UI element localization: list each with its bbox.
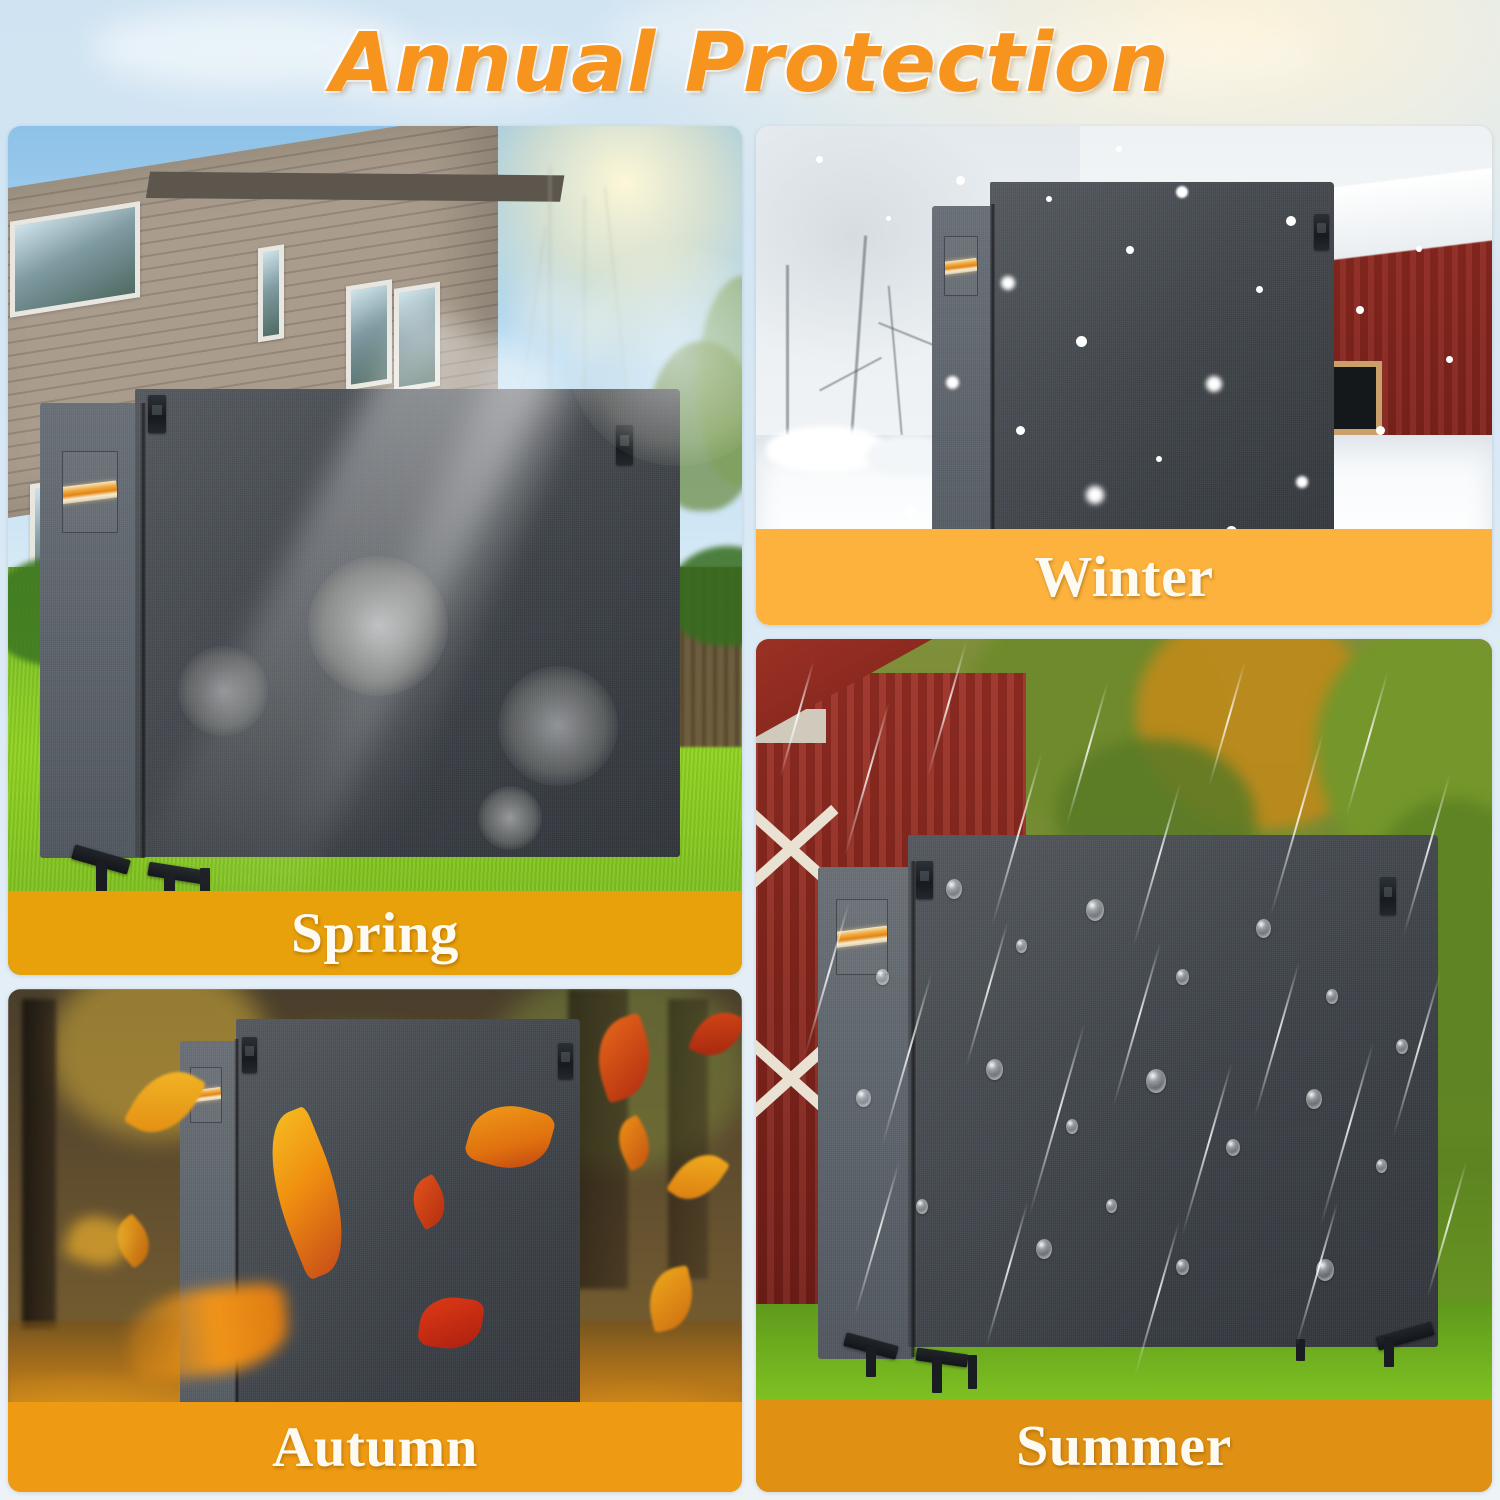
buckle-clip [148, 395, 166, 433]
house-window [10, 201, 140, 318]
ground-anchor-leg [932, 1359, 942, 1393]
reflective-strip-patch [836, 899, 888, 975]
buckle-clip [558, 1043, 573, 1079]
buckle-clip [1314, 214, 1329, 250]
scene-summer [756, 639, 1492, 1492]
ac-cover-summer [818, 835, 1438, 1355]
buckle-clip [242, 1037, 257, 1073]
cover-seam [140, 403, 147, 858]
reflective-strip [190, 1087, 222, 1103]
tree-trunk [22, 999, 56, 1329]
tree-branch [819, 357, 882, 392]
buckle-clip [616, 425, 633, 465]
caption-label-spring: Spring [291, 905, 459, 962]
poster: Annual Protection [0, 0, 1500, 1500]
fabric-texture [135, 389, 680, 857]
caption-band-winter: Winter [756, 529, 1492, 625]
tree-trunk [668, 999, 708, 1279]
caption-band-summer: Summer [756, 1400, 1492, 1492]
cover-side-panel [818, 867, 914, 1359]
ground-anchor-leg [866, 1347, 876, 1377]
panel-winter: Winter [756, 126, 1492, 625]
reflective-strip [836, 926, 888, 949]
scene-spring [8, 126, 742, 975]
caption-band-autumn: Autumn [8, 1402, 742, 1492]
tree-branch [878, 322, 934, 346]
panel-spring: Spring [8, 126, 742, 975]
caption-band-spring: Spring [8, 891, 742, 975]
house-window [346, 279, 392, 390]
ac-cover-spring [40, 403, 680, 858]
cover-front-panel [135, 389, 680, 857]
cover-seam [910, 861, 917, 1357]
buckle-clip [1380, 877, 1396, 915]
reflective-strip [944, 257, 978, 274]
ground-anchor-leg [1384, 1337, 1394, 1367]
house-window [394, 282, 440, 393]
page-title: Annual Protection [331, 16, 1170, 111]
buckle-clip [916, 861, 933, 899]
reflective-strip-patch [944, 236, 978, 296]
poster-header: Annual Protection [0, 0, 1500, 126]
caption-label-summer: Summer [1016, 1417, 1232, 1475]
ground-anchor-leg [1296, 1339, 1305, 1361]
panel-autumn: Autumn [8, 989, 742, 1492]
fabric-texture [908, 835, 1438, 1347]
caption-label-winter: Winter [1034, 548, 1213, 606]
caption-label-autumn: Autumn [272, 1419, 478, 1476]
cover-front-panel [908, 835, 1438, 1347]
reflective-strip [62, 480, 118, 504]
house-window [258, 244, 284, 342]
ground-anchor-leg [968, 1355, 977, 1389]
reflective-strip-patch [190, 1067, 222, 1123]
panel-summer: Summer [756, 639, 1492, 1492]
roof-edge [146, 172, 565, 202]
cover-side-panel [40, 403, 144, 858]
reflective-strip-patch [62, 451, 118, 533]
